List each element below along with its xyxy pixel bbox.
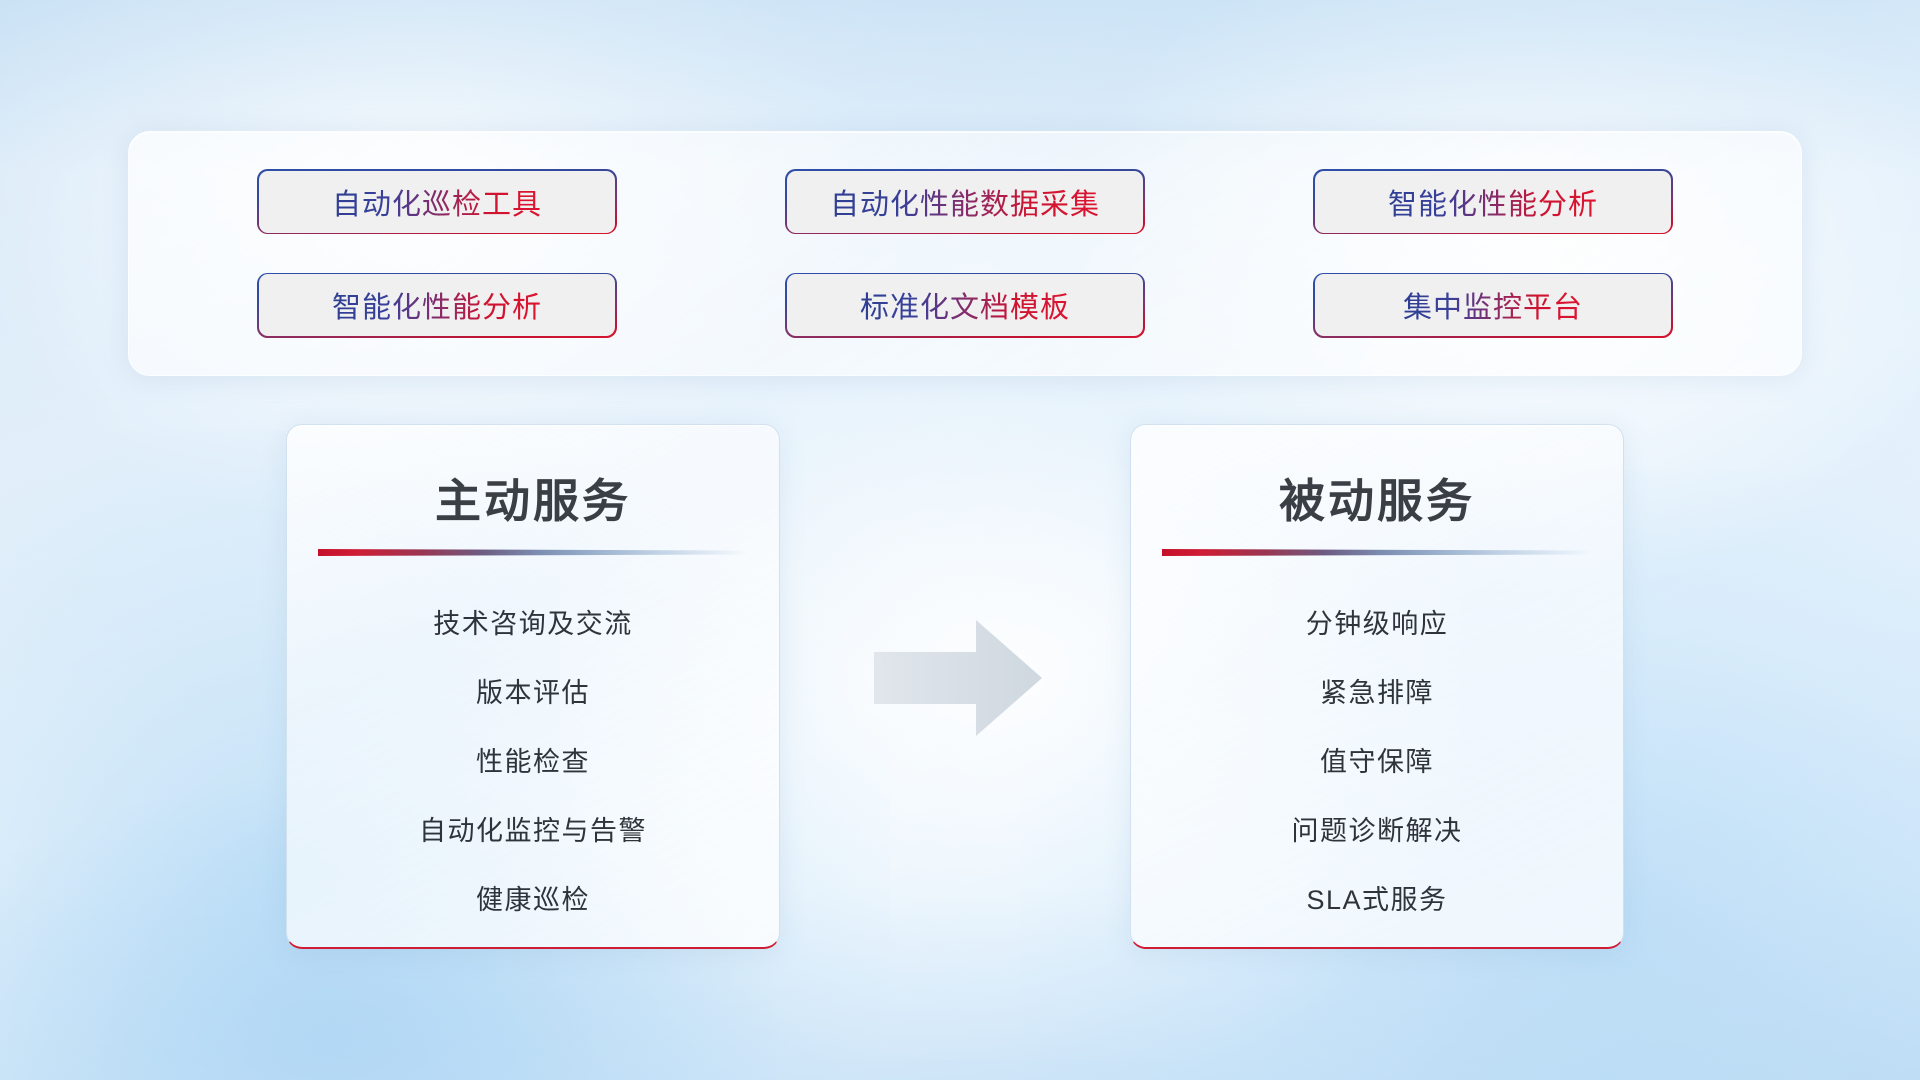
card-item-list: 技术咨询及交流 版本评估 性能检查 自动化监控与告警 健康巡检 [287,590,779,935]
card-divider [1162,549,1592,556]
capability-pill-automated-performance-collection[interactable]: 自动化性能数据采集 [787,171,1143,233]
list-item: 性能检查 [476,728,590,797]
list-item: 健康巡检 [476,866,590,935]
list-item: 版本评估 [476,659,590,728]
list-item: 值守保障 [1320,728,1434,797]
pill-label: 智能化性能分析 [332,284,542,326]
pill-surface: 标准化文档模板 [787,274,1143,336]
card-title: 被动服务 [1131,465,1623,531]
card-proactive-service: 主动服务 技术咨询及交流 版本评估 性能检查 自动化监控与告警 健康巡检 [286,424,780,949]
card-reactive-service: 被动服务 分钟级响应 紧急排障 值守保障 问题诊断解决 SLA式服务 [1130,424,1624,949]
list-item: 技术咨询及交流 [433,590,633,659]
capabilities-panel: 自动化巡检工具 自动化性能数据采集 智能化性能分析 智能化性能分析 标准化文档模… [128,131,1802,376]
pill-surface: 自动化性能数据采集 [787,171,1143,233]
pill-surface: 智能化性能分析 [1315,171,1671,233]
pill-label: 自动化巡检工具 [332,181,542,223]
list-item: SLA式服务 [1306,866,1447,935]
card-title: 主动服务 [287,465,779,531]
card-divider [318,549,748,556]
list-item: 分钟级响应 [1306,590,1449,659]
capability-pill-standardized-doc-template[interactable]: 标准化文档模板 [787,274,1143,336]
arrow-right-icon [872,618,1044,738]
capability-pill-centralized-monitoring-platform[interactable]: 集中监控平台 [1315,274,1671,336]
pill-label: 智能化性能分析 [1388,181,1598,223]
pill-label: 集中监控平台 [1403,284,1583,326]
card-item-list: 分钟级响应 紧急排障 值守保障 问题诊断解决 SLA式服务 [1131,590,1623,935]
list-item: 自动化监控与告警 [419,797,647,866]
pill-surface: 自动化巡检工具 [259,171,615,233]
list-item: 问题诊断解决 [1292,797,1463,866]
pill-label: 标准化文档模板 [860,284,1070,326]
capability-pill-intelligent-performance-analysis-2[interactable]: 智能化性能分析 [259,274,615,336]
pill-surface: 集中监控平台 [1315,274,1671,336]
capability-pill-intelligent-performance-analysis-1[interactable]: 智能化性能分析 [1315,171,1671,233]
capabilities-grid: 自动化巡检工具 自动化性能数据采集 智能化性能分析 智能化性能分析 标准化文档模… [129,132,1801,375]
capability-pill-automated-inspection-tool[interactable]: 自动化巡检工具 [259,171,615,233]
pill-label: 自动化性能数据采集 [830,181,1100,223]
pill-surface: 智能化性能分析 [259,274,615,336]
list-item: 紧急排障 [1320,659,1434,728]
